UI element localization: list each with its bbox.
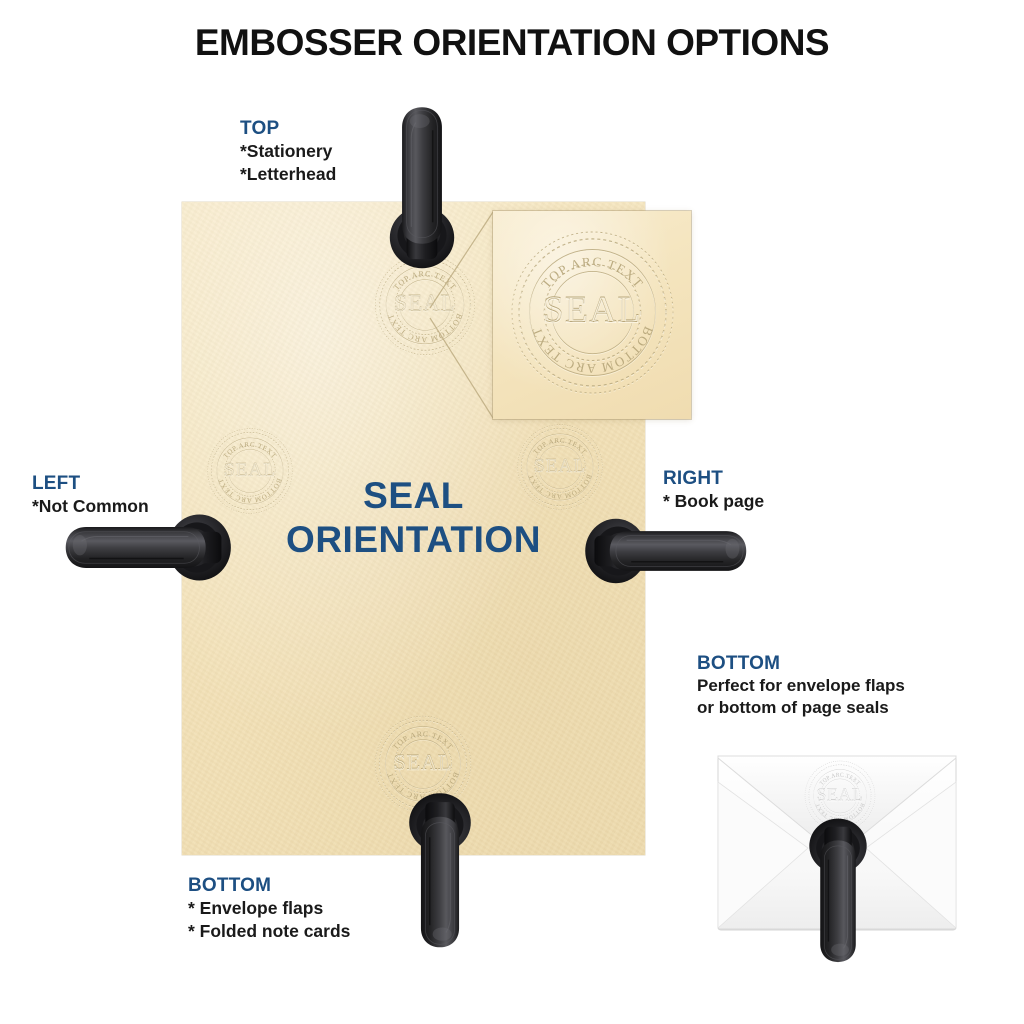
seal-impression-magnified xyxy=(505,225,680,400)
callout-bottom: BOTTOM * Envelope flaps * Folded note ca… xyxy=(188,875,350,942)
callout-top: TOP *Stationery *Letterhead xyxy=(240,118,336,185)
callout-right-line-1: * Book page xyxy=(663,490,764,512)
callout-top-line-1: *Stationery xyxy=(240,140,336,162)
center-label-line1: SEAL xyxy=(182,474,645,518)
callout-envelope-line-1: Perfect for envelope flaps xyxy=(697,675,905,697)
center-label: SEAL ORIENTATION xyxy=(182,474,645,561)
embosser-device-envelope[interactable] xyxy=(797,800,879,982)
center-label-line2: ORIENTATION xyxy=(182,518,645,562)
callout-bottom-heading: BOTTOM xyxy=(188,875,350,897)
callout-left: LEFT *Not Common xyxy=(32,473,149,518)
embosser-device-bottom[interactable] xyxy=(396,790,484,952)
callout-bottom-line-2: * Folded note cards xyxy=(188,920,350,942)
magnifier-inset xyxy=(493,211,691,419)
callout-right-heading: RIGHT xyxy=(663,468,764,490)
callout-left-line-1: *Not Common xyxy=(32,495,149,517)
page-title: EMBOSSER ORIENTATION OPTIONS xyxy=(0,22,1024,64)
embosser-device-top[interactable] xyxy=(376,102,468,272)
embosser-device-right[interactable] xyxy=(580,505,753,597)
callout-top-heading: TOP xyxy=(240,118,336,140)
callout-bottom-line-1: * Envelope flaps xyxy=(188,897,350,919)
callout-left-heading: LEFT xyxy=(32,473,149,495)
callout-top-line-2: *Letterhead xyxy=(240,163,336,185)
callout-right: RIGHT * Book page xyxy=(663,468,764,513)
illustration-canvas: TOP ARC TEXT BOTTOM ARC TEXT SEAL SEAL xyxy=(0,0,1024,1024)
callout-envelope-line-2: or bottom of page seals xyxy=(697,697,905,719)
callout-envelope-heading: BOTTOM xyxy=(697,653,905,675)
callout-envelope-bottom: BOTTOM Perfect for envelope flaps or bot… xyxy=(697,653,905,719)
